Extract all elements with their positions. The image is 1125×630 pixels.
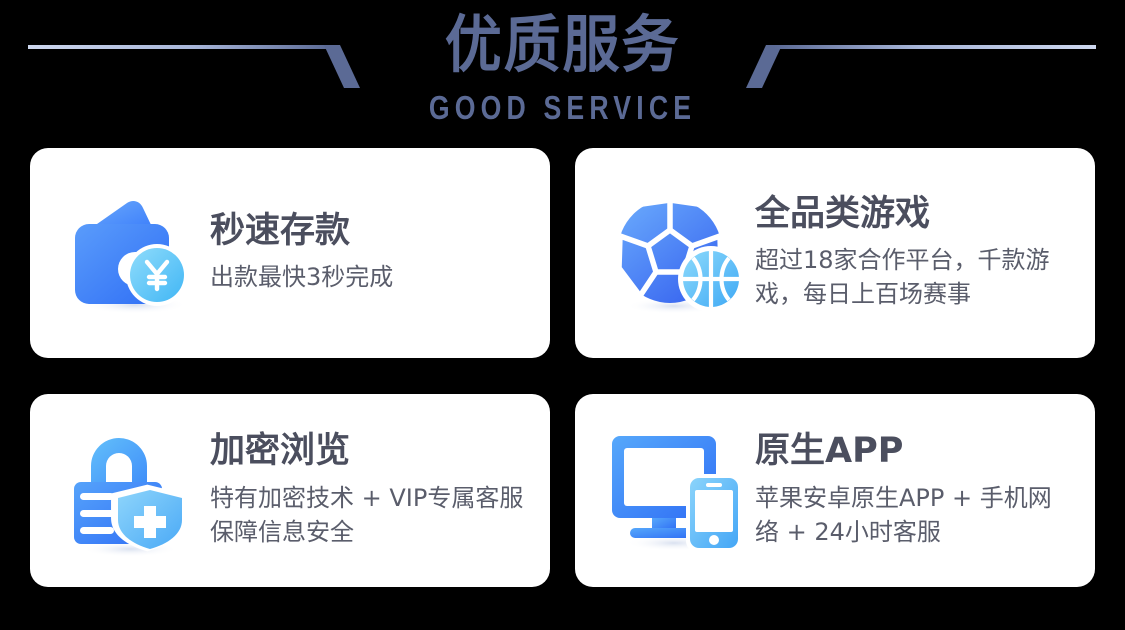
feature-card-text: 加密浏览 特有加密技术 + VIP专属客服保障信息安全: [206, 432, 528, 548]
feature-card-desc: 出款最快3秒完成: [210, 260, 393, 294]
header-title-block: 优质服务 GOOD SERVICE: [0, 0, 1125, 123]
feature-card-desc: 苹果安卓原生APP + 手机网络 + 24小时客服: [755, 481, 1073, 549]
feature-card-title: 全品类游戏: [755, 195, 1085, 234]
feature-card-desc: 超过18家合作平台，千款游戏，每日上百场赛事: [755, 243, 1085, 311]
lock-shield-icon: [56, 421, 206, 561]
page-header: 优质服务 GOOD SERVICE: [0, 0, 1125, 148]
wallet-yen-icon: [56, 183, 206, 323]
feature-card-text: 原生APP 苹果安卓原生APP + 手机网络 + 24小时客服: [751, 432, 1073, 548]
feature-card-native-app[interactable]: 原生APP 苹果安卓原生APP + 手机网络 + 24小时客服: [575, 394, 1095, 587]
feature-card-title: 加密浏览: [210, 432, 528, 471]
feature-card-encryption[interactable]: 加密浏览 特有加密技术 + VIP专属客服保障信息安全: [30, 394, 550, 587]
feature-card-deposit[interactable]: 秒速存款 出款最快3秒完成: [30, 148, 550, 358]
feature-card-text: 全品类游戏 超过18家合作平台，千款游戏，每日上百场赛事: [751, 195, 1085, 311]
feature-card-desc: 特有加密技术 + VIP专属客服保障信息安全: [210, 481, 528, 549]
feature-card-games[interactable]: 全品类游戏 超过18家合作平台，千款游戏，每日上百场赛事: [575, 148, 1095, 358]
feature-card-title: 秒速存款: [210, 212, 393, 251]
soccer-basketball-icon: [601, 183, 751, 323]
page-subtitle: GOOD SERVICE: [79, 91, 1047, 124]
feature-card-grid: 秒速存款 出款最快3秒完成: [30, 148, 1095, 587]
feature-card-text: 秒速存款 出款最快3秒完成: [206, 212, 393, 294]
monitor-phone-icon: [601, 421, 751, 561]
feature-card-title: 原生APP: [755, 432, 1073, 471]
page-title: 优质服务: [45, 0, 1080, 76]
